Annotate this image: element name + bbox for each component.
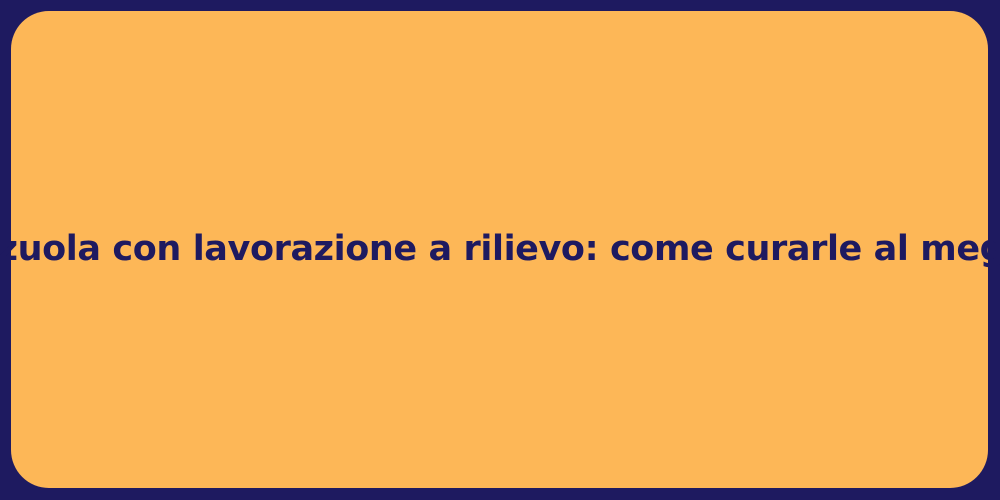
banner-frame: Lenzuola con lavorazione a rilievo: come…	[0, 0, 1000, 500]
banner-panel: Lenzuola con lavorazione a rilievo: come…	[11, 11, 988, 488]
banner-title: Lenzuola con lavorazione a rilievo: come…	[0, 228, 1000, 272]
